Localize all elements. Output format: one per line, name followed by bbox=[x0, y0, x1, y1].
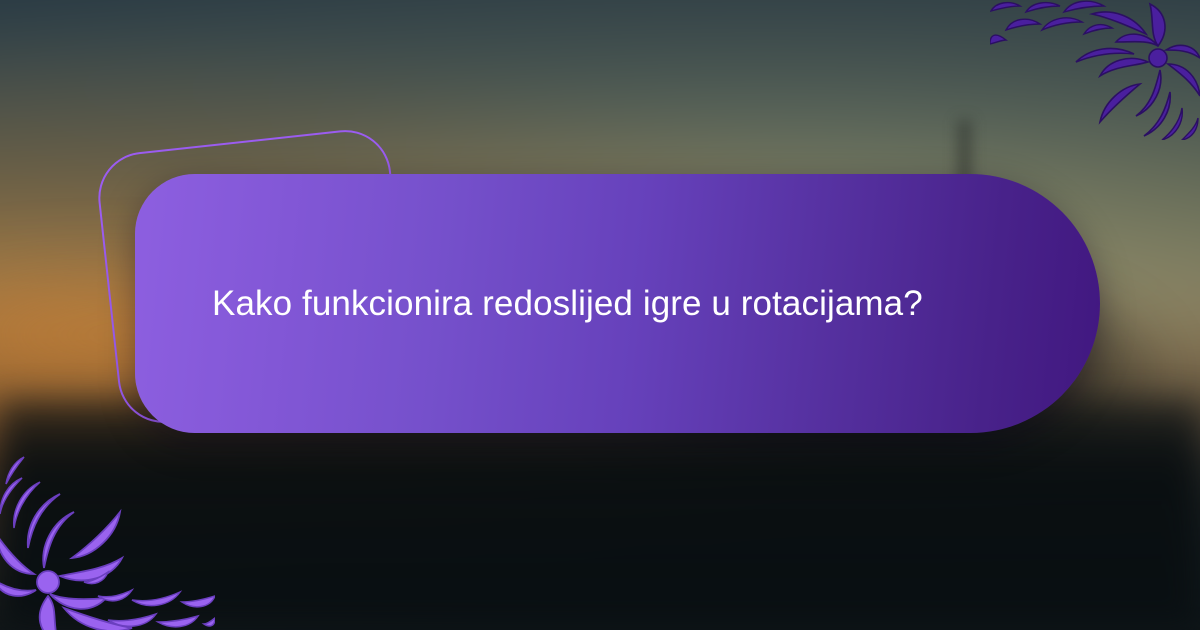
title-card[interactable]: Kako funkcionira redoslijed igre u rotac… bbox=[135, 174, 1100, 433]
share-card-canvas: Kako funkcionira redoslijed igre u rotac… bbox=[0, 0, 1200, 630]
page-title: Kako funkcionira redoslijed igre u rotac… bbox=[135, 282, 993, 326]
background-foreground-shadow bbox=[0, 400, 1200, 630]
